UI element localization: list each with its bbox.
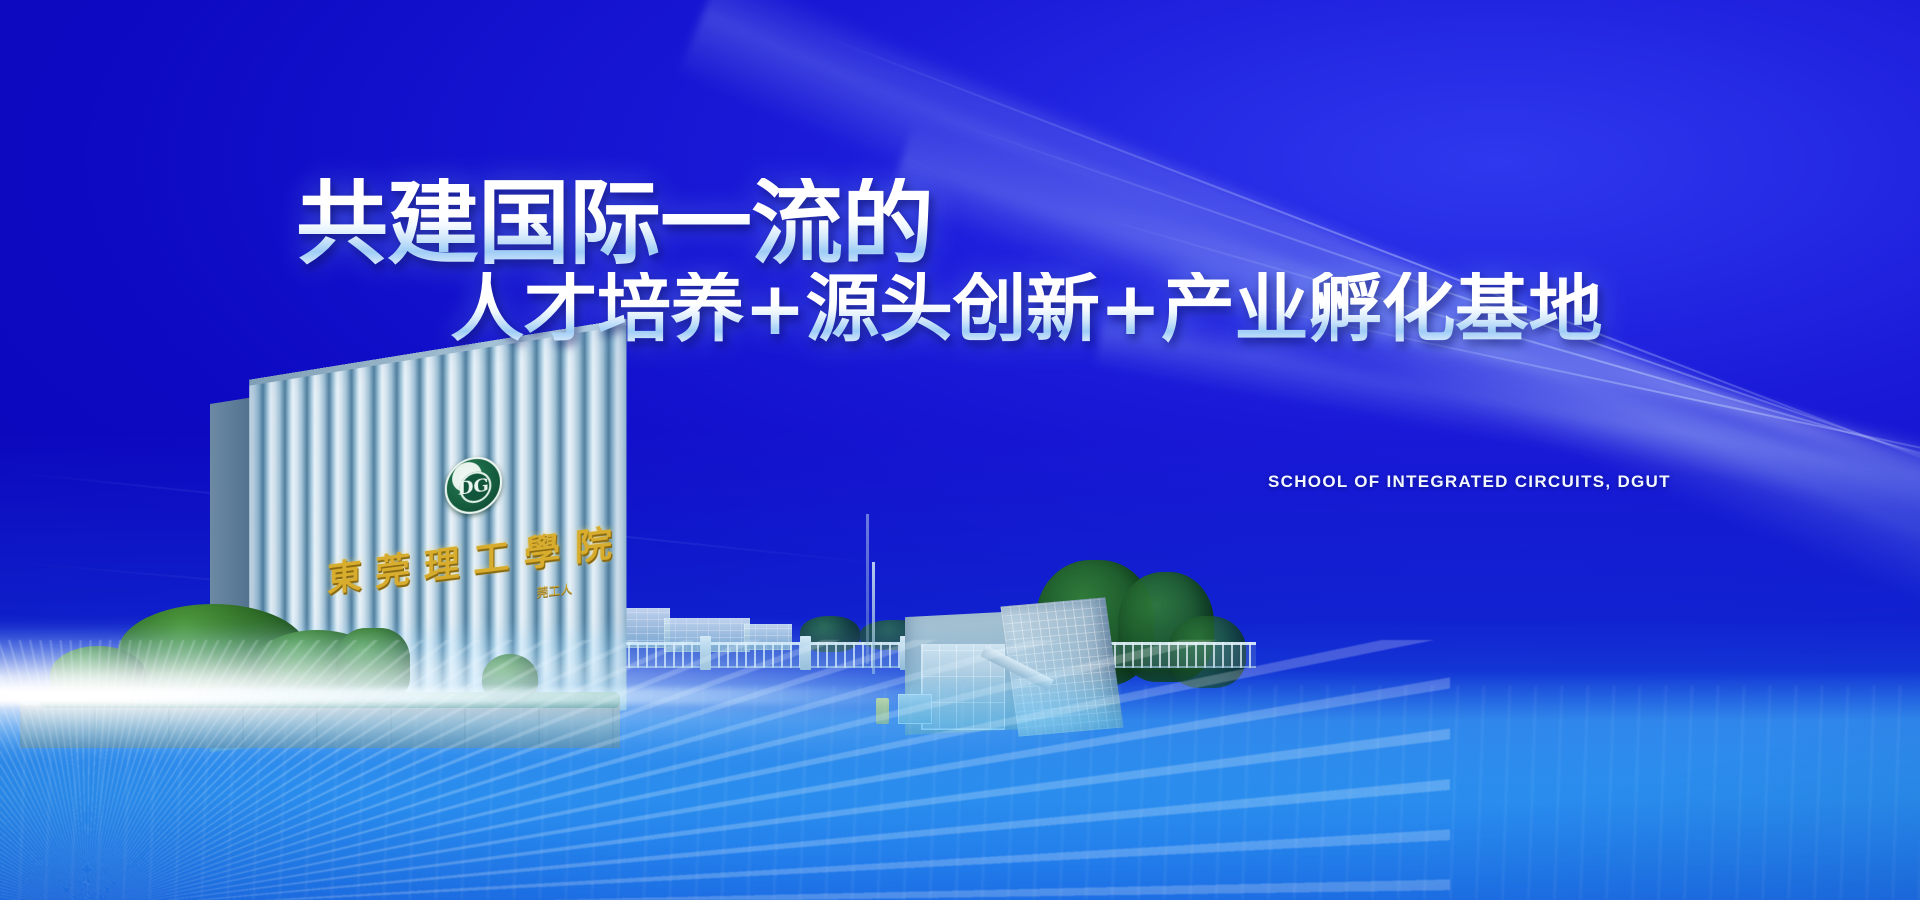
sign-char-1: 東 — [327, 547, 362, 601]
sign-char-3: 理 — [424, 534, 460, 589]
banner-root: DG 東 莞 理 工 學 院 莞工人 共建国际一流的 人才培养+源头创新+产业孵… — [0, 0, 1920, 900]
english-subtitle: SCHOOL OF INTEGRATED CIRCUITS, DGUT — [1268, 472, 1671, 492]
sign-char-6: 院 — [575, 514, 612, 571]
headline-line-1: 共建国际一流的 — [296, 178, 933, 270]
sign-char-2: 莞 — [375, 541, 410, 596]
light-burst-beam — [0, 688, 980, 704]
headline-line-2: 人才培养+源头创新+产业孵化基地 — [450, 272, 1602, 346]
emblem-monogram: DG — [447, 471, 500, 503]
sign-char-5: 學 — [524, 521, 561, 577]
sign-char-4: 工 — [473, 528, 509, 584]
